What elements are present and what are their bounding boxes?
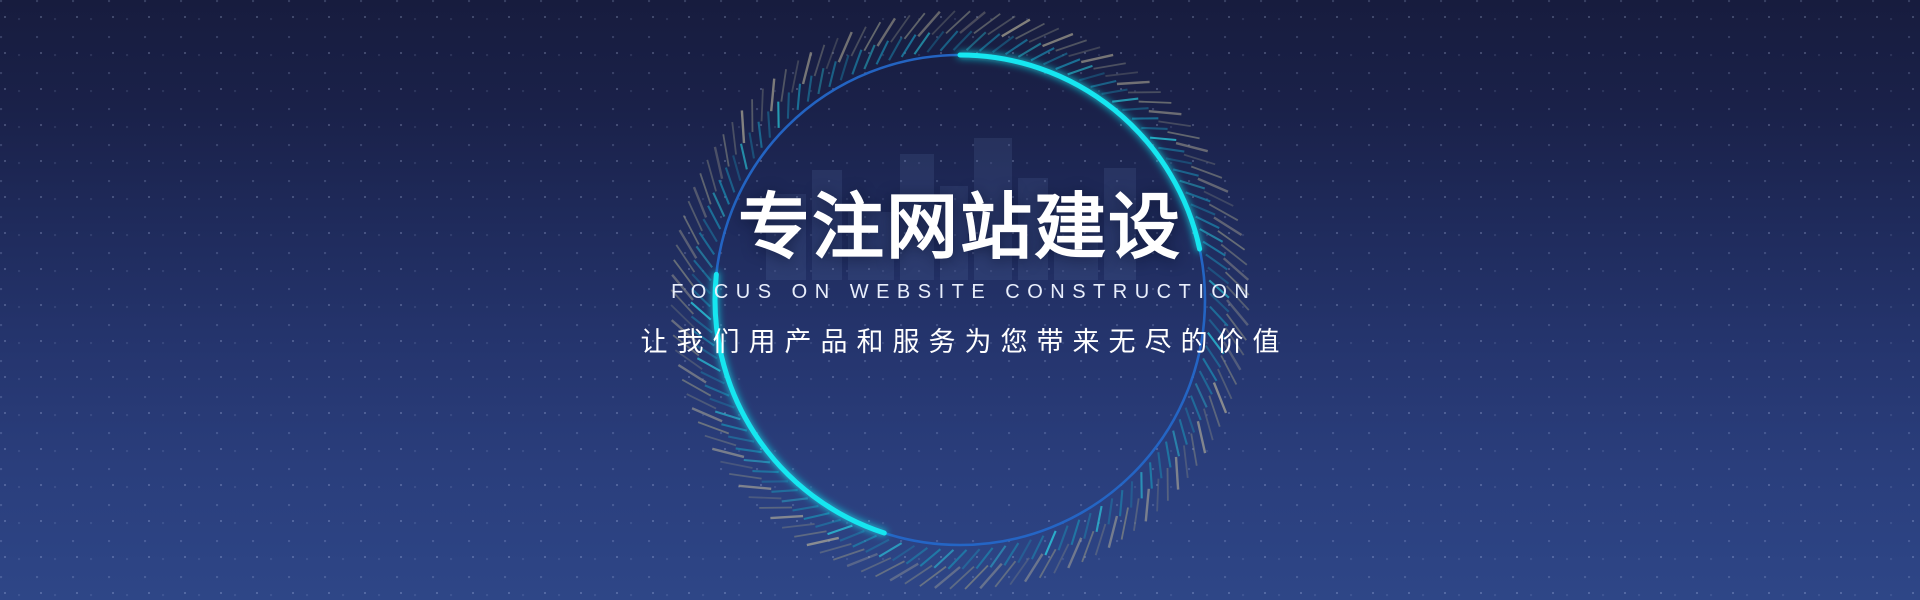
banner-subtitle-en: FOCUS ON WEBSITE CONSTRUCTION [0,280,1920,304]
banner-subtitle-cn: 让我们用产品和服务为您带来无尽的价值 [0,326,1920,360]
banner-copy: 专注网站建设 FOCUS ON WEBSITE CONSTRUCTION 让我们… [0,186,1920,360]
hero-banner: 专注网站建设 FOCUS ON WEBSITE CONSTRUCTION 让我们… [0,0,1920,600]
banner-headline: 专注网站建设 [0,186,1920,268]
